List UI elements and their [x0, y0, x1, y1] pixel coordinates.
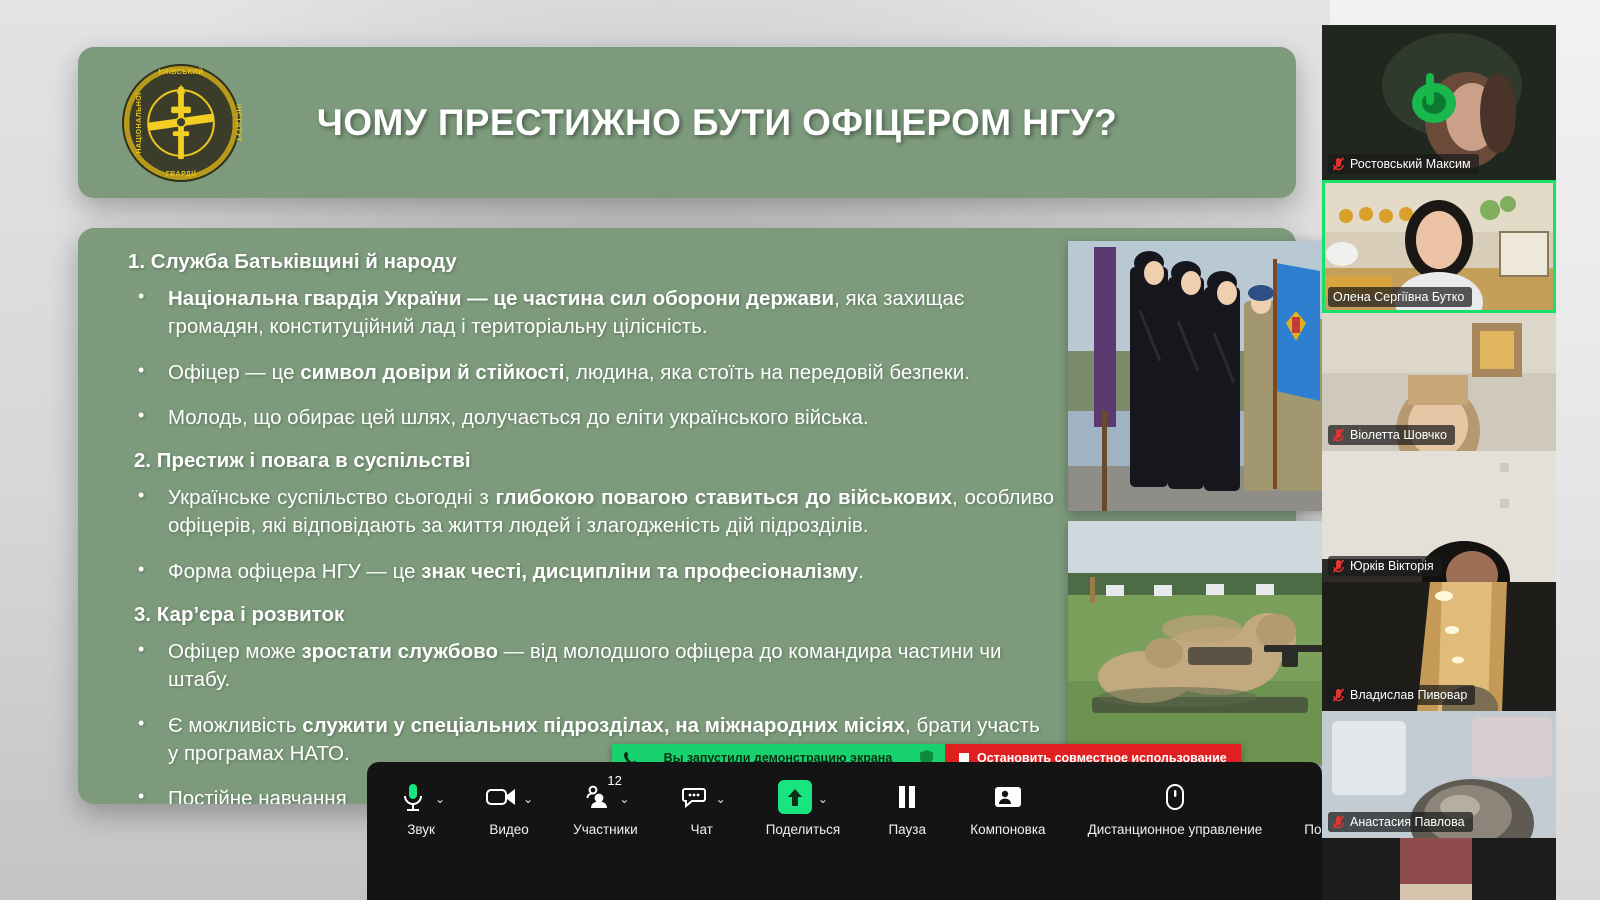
chat-bubble-icon [678, 781, 710, 813]
bullet-item: Молодь, що обирає цей шлях, долучається … [124, 404, 1054, 432]
toolbar-label-show-meeting: Показать конферен [1304, 822, 1322, 837]
participant-tile[interactable]: Віолетта Шовчко [1322, 313, 1556, 451]
logo-text-bottom: ГВАРДІЇ [166, 171, 196, 178]
muted-microphone-icon [1333, 157, 1344, 171]
slide-header-panel: КИЇВСЬКИЙ ІНСТИТУТ ГВАРДІЇ НАЦІОНАЛЬНОЇ … [78, 47, 1296, 198]
participant-name-label: Віолетта Шовчко [1328, 425, 1455, 445]
slide-title: ЧОМУ ПРЕСТИЖНО БУТИ ОФІЦЕРОМ НГУ? [78, 102, 1296, 144]
participant-name-text: Владислав Пивовар [1350, 688, 1467, 702]
bullet-item: Національна гвардія України — це частина… [124, 285, 1054, 342]
logo-sword-emblem [140, 82, 222, 164]
toolbar-label-pause: Пауза [888, 822, 926, 837]
share-arrow-up-icon [778, 780, 812, 814]
layout-person-icon [992, 781, 1024, 813]
chevron-down-icon[interactable]: ⌄ [435, 793, 445, 805]
muted-microphone-icon [1333, 559, 1344, 573]
participant-name-label: Анастасия Павлова [1328, 812, 1473, 832]
bullet-bold: знак честі, дисципліни та професіоналізм… [421, 560, 858, 583]
participant-name-text: Віолетта Шовчко [1350, 428, 1447, 442]
participant-name-text: Олена Сергіївна Бутко [1333, 290, 1464, 304]
toolbar-label-audio: Звук [407, 822, 435, 837]
bullet-pre: Молодь, що обирає цей шлях, долучається … [168, 406, 869, 429]
participant-name-text: Анастасия Павлова [1350, 815, 1465, 829]
camera-icon [485, 781, 517, 813]
participant-name-label: Владислав Пивовар [1328, 685, 1475, 705]
participant-tile[interactable]: Ростовський Максим [1322, 25, 1556, 180]
toolbar-button-pause[interactable]: Пауза [880, 776, 934, 837]
toolbar-label-layout: Компоновка [970, 822, 1045, 837]
toolbar-label-share: Поделиться [766, 822, 841, 837]
chevron-down-icon[interactable]: ⌄ [716, 793, 726, 805]
institute-logo: КИЇВСЬКИЙ ІНСТИТУТ ГВАРДІЇ НАЦІОНАЛЬНОЇ [122, 64, 240, 182]
bullet-bold: символ довіри й стійкості [300, 361, 564, 384]
bullet-pre: Офіцер може [168, 640, 301, 663]
toolbar-button-layout[interactable]: Компоновка [964, 776, 1051, 837]
participants-count-badge: 12 [607, 773, 621, 788]
participant-video-feed [1322, 838, 1556, 900]
participant-name-text: Юрків Вікторія [1350, 559, 1434, 573]
mouse-icon [1159, 781, 1191, 813]
participant-name-label: Ростовський Максим [1328, 154, 1479, 174]
participant-tile[interactable]: Юрків Вікторія [1322, 451, 1556, 582]
toolbar-button-remote-control[interactable]: Дистанционное управление [1082, 776, 1269, 837]
microphone-icon [397, 781, 429, 813]
participant-tile[interactable]: Владислав Пивовар [1322, 582, 1556, 711]
bullet-item: Офіцер може зростати службово — від моло… [124, 638, 1054, 695]
bullet-bold: глибокою повагою ставиться до військових [496, 486, 952, 509]
bullet-rest: , людина, яка стоїть на передовій безпек… [565, 361, 970, 384]
participant-tile-active[interactable]: Олена Сергіївна Бутко [1322, 180, 1556, 313]
participant-video-strip[interactable]: Ростовський Максим Олена Сергіївна Бутко [1322, 25, 1556, 900]
bullet-item: Офіцер — це символ довіри й стійкості, л… [124, 359, 1054, 387]
participant-name-label: Олена Сергіївна Бутко [1328, 287, 1472, 307]
toolbar-button-audio[interactable]: ⌄ Звук [391, 776, 451, 837]
photo-guard-formation [1068, 241, 1328, 511]
chevron-down-icon[interactable]: ⌄ [619, 793, 629, 805]
meeting-toolbar: ⌄ Звук ⌄ Видео 12 [367, 762, 1322, 900]
bullet-bold: зростати службово [301, 640, 498, 663]
participant-tile-partial[interactable] [1322, 838, 1556, 900]
bullet-bold: служити у спеціальних підрозділах, на мі… [302, 714, 905, 737]
bullet-item: Українське суспільство сьогодні з глибок… [124, 484, 1054, 541]
bullet-pre: Постійне навчання [168, 787, 347, 804]
muted-microphone-icon [1333, 428, 1344, 442]
participant-name-text: Ростовський Максим [1350, 157, 1471, 171]
toolbar-button-chat[interactable]: ⌄ Чат [672, 776, 732, 837]
muted-microphone-icon [1333, 688, 1344, 702]
bullet-pre: Є можливість [168, 714, 302, 737]
pause-icon [891, 781, 923, 813]
toolbar-label-remote-control: Дистанционное управление [1088, 822, 1263, 837]
toolbar-button-participants[interactable]: 12 ⌄ Участники [567, 776, 644, 837]
logo-text-right: ІНСТИТУТ [234, 103, 241, 141]
participant-name-label: Юрків Вікторія [1328, 556, 1442, 576]
bullet-item: Форма офіцера НГУ — це знак честі, дисци… [124, 558, 1054, 586]
toolbar-button-show-meeting[interactable]: Показать конферен [1298, 776, 1322, 837]
chevron-down-icon[interactable]: ⌄ [523, 793, 533, 805]
photo-shooting-range [1068, 521, 1328, 765]
bullet-pre: Українське суспільство сьогодні з [168, 486, 496, 509]
bullet-rest: . [858, 560, 864, 583]
muted-microphone-icon [1333, 815, 1344, 829]
toolbar-button-share[interactable]: ⌄ Поделиться [760, 776, 847, 837]
bullet-pre: Офіцер — це [168, 361, 300, 384]
bullet-pre: Форма офіцера НГУ — це [168, 560, 421, 583]
toolbar-label-chat: Чат [690, 822, 712, 837]
stop-square-icon [959, 753, 969, 763]
participant-tile[interactable]: Анастасия Павлова [1322, 711, 1556, 838]
toolbar-label-participants: Участники [573, 822, 638, 837]
toolbar-label-video: Видео [489, 822, 528, 837]
chevron-down-icon[interactable]: ⌄ [818, 793, 828, 805]
logo-text-top: КИЇВСЬКИЙ [159, 69, 204, 76]
toolbar-button-video[interactable]: ⌄ Видео [479, 776, 539, 837]
bullet-bold: Національна гвардія України — це частина… [168, 287, 834, 310]
